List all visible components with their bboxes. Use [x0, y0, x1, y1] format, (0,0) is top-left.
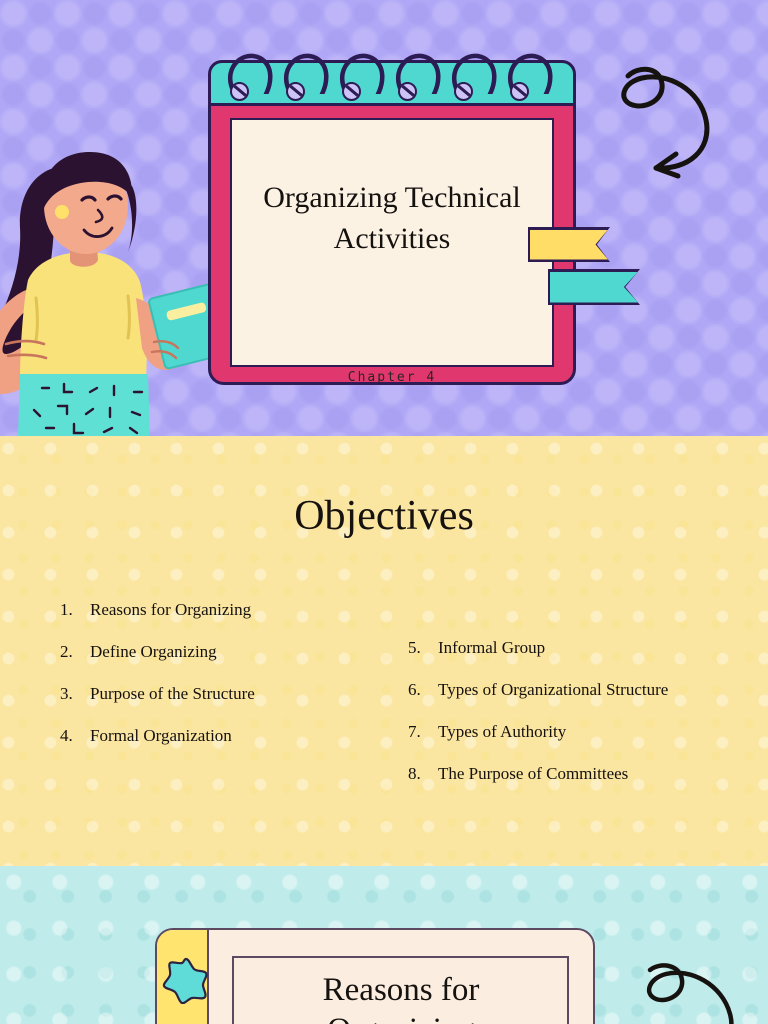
slide-title-line2: Activities: [230, 219, 554, 260]
objective-item: 7. Types of Authority: [408, 722, 768, 742]
reasons-title-line1: Reasons for: [323, 972, 480, 1008]
spiral-binding: [208, 60, 576, 110]
objective-number: 3.: [60, 684, 90, 704]
objective-item: 6. Types of Organizational Structure: [408, 680, 768, 700]
objective-item: 1. Reasons for Organizing: [60, 600, 420, 620]
objective-number: 4.: [60, 726, 90, 746]
slide-title: Organizing Technical Activities Chapter …: [0, 0, 768, 436]
objective-item: 2. Define Organizing: [60, 642, 420, 662]
objective-label: Types of Authority: [438, 722, 566, 742]
objectives-heading: Objectives: [0, 492, 768, 540]
reasons-card: Reasons for Organizing: [155, 928, 595, 1024]
slide-subtitle: Chapter 4: [230, 370, 554, 385]
objective-item: 8. The Purpose of Committees: [408, 764, 768, 784]
star-icon: [162, 956, 210, 1004]
objective-label: Formal Organization: [90, 726, 232, 746]
spiral-hole: [510, 82, 529, 101]
objectives-column-right: 5. Informal Group 6. Types of Organizati…: [408, 638, 768, 806]
presentation-deck: Organizing Technical Activities Chapter …: [0, 0, 768, 1024]
curly-doodle-icon: [638, 958, 748, 1024]
objective-number: 1.: [60, 600, 90, 620]
objective-number: 5.: [408, 638, 438, 658]
girl-illustration: [0, 148, 208, 436]
slide-title-text: Organizing Technical Activities: [230, 178, 554, 259]
spiral-hole: [454, 82, 473, 101]
spiral-hole: [230, 82, 249, 101]
objective-item: 5. Informal Group: [408, 638, 768, 658]
objective-number: 6.: [408, 680, 438, 700]
spiral-hole: [342, 82, 361, 101]
objectives-column-left: 1. Reasons for Organizing 2. Define Orga…: [60, 600, 420, 768]
curly-arrow-icon: [608, 58, 738, 193]
objective-number: 8.: [408, 764, 438, 784]
reasons-title-line2: Organizing: [327, 1012, 475, 1024]
objective-label: Reasons for Organizing: [90, 600, 251, 620]
objective-number: 2.: [60, 642, 90, 662]
slide-title-line1: Organizing Technical: [263, 181, 521, 214]
notebook-card: Organizing Technical Activities Chapter …: [208, 60, 576, 385]
objective-label: The Purpose of Committees: [438, 764, 628, 784]
objective-label: Informal Group: [438, 638, 545, 658]
spiral-hole: [398, 82, 417, 101]
objective-label: Types of Organizational Structure: [438, 680, 668, 700]
objective-number: 7.: [408, 722, 438, 742]
objective-item: 4. Formal Organization: [60, 726, 420, 746]
reasons-title: Reasons for Organizing: [235, 970, 567, 1024]
objective-label: Purpose of the Structure: [90, 684, 255, 704]
slide-objectives: Objectives 1. Reasons for Organizing 2. …: [0, 436, 768, 866]
spiral-hole: [286, 82, 305, 101]
objective-label: Define Organizing: [90, 642, 217, 662]
objective-item: 3. Purpose of the Structure: [60, 684, 420, 704]
